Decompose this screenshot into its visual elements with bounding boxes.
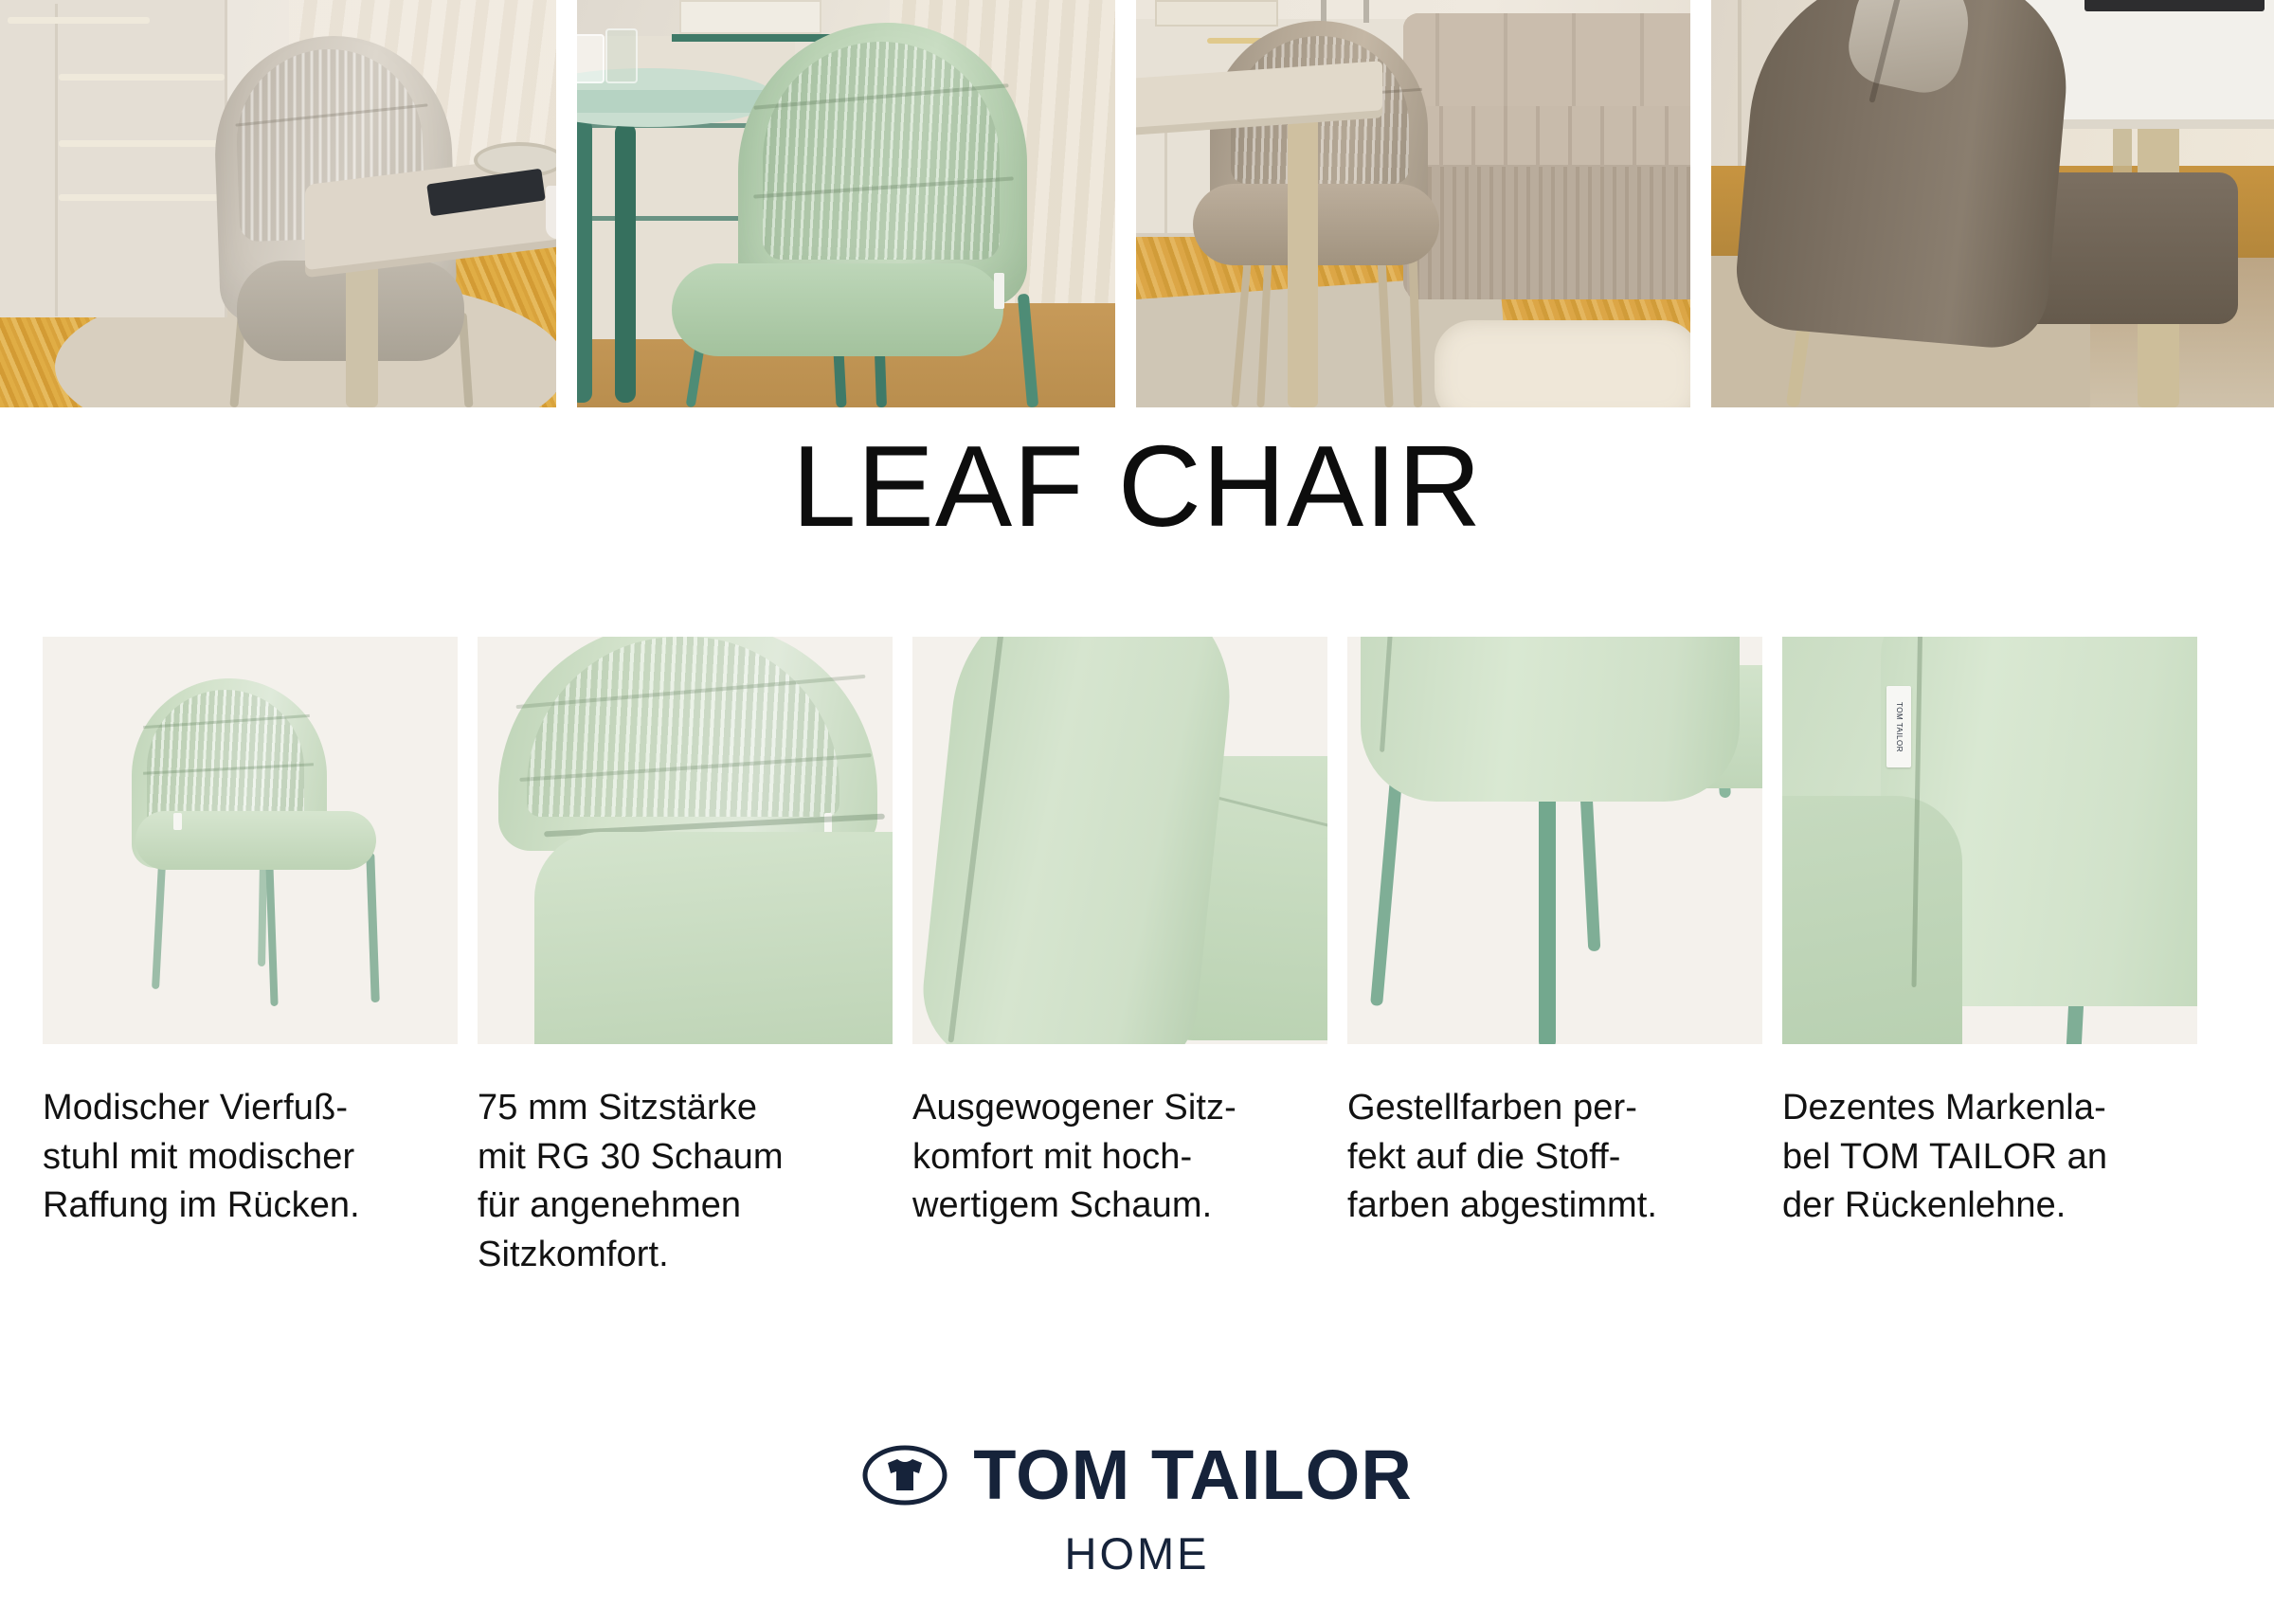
brand-name: TOM TAILOR	[973, 1440, 1413, 1510]
brand-sub-name: HOME	[1065, 1531, 1210, 1576]
feature-item-2: 75 mm Sitzstärkemit RG 30 Schaumfür ange…	[478, 637, 893, 1280]
feature-caption-4-line-2: fekt auf die Stoff-	[1347, 1137, 1620, 1177]
hero-image-green-chair-table	[577, 0, 1115, 407]
hero-image-taupe-chair-sofa	[1136, 0, 1689, 407]
feature-caption-1-line-3: Raffung im Rücken.	[43, 1185, 360, 1225]
feature-caption-2: 75 mm Sitzstärkemit RG 30 Schaumfür ange…	[478, 1084, 893, 1280]
feature-image-back-curve	[912, 637, 1327, 1044]
feature-caption-1-line-2: stuhl mit modischer	[43, 1137, 354, 1177]
feature-item-1: Modischer Vierfuß-stuhl mit modischerRaf…	[43, 637, 458, 1280]
feature-caption-5-line-1: Dezentes Markenla-	[1782, 1088, 2106, 1128]
tshirt-in-ellipse-icon	[861, 1444, 948, 1507]
hero-image-beige-chair-dining	[0, 0, 556, 407]
product-page: LEAF CHAIR Modischer Vierfuß-stuhl mit m…	[0, 0, 2274, 1624]
feature-image-seat-thickness	[478, 637, 893, 1044]
feature-item-4: Gestellfarben per-fekt auf die Stoff-far…	[1347, 637, 1762, 1280]
page-title: LEAF CHAIR	[0, 428, 2274, 544]
feature-caption-1: Modischer Vierfuß-stuhl mit modischerRaf…	[43, 1084, 458, 1231]
feature-caption-2-line-3: für angenehmen	[478, 1185, 741, 1225]
feature-caption-4-line-1: Gestellfarben per-	[1347, 1088, 1637, 1128]
feature-caption-5-line-3: der Rückenlehne.	[1782, 1185, 2066, 1225]
feature-item-3: Ausgewogener Sitz-komfort mit hoch-werti…	[912, 637, 1327, 1280]
feature-image-full-chair	[43, 637, 458, 1044]
feature-caption-2-line-1: 75 mm Sitzstärke	[478, 1088, 757, 1128]
feature-caption-3-line-3: wertigem Schaum.	[912, 1185, 1212, 1225]
feature-caption-3-line-2: komfort mit hoch-	[912, 1137, 1192, 1177]
brand-logo: TOM TAILOR HOME	[0, 1440, 2274, 1576]
feature-caption-2-line-2: mit RG 30 Schaum	[478, 1137, 784, 1177]
feature-grid: Modischer Vierfuß-stuhl mit modischerRaf…	[43, 637, 2231, 1280]
feature-caption-1-line-1: Modischer Vierfuß-	[43, 1088, 348, 1128]
hero-image-brown-chair-profile	[1711, 0, 2274, 407]
feature-caption-2-line-4: Sitzkomfort.	[478, 1235, 669, 1274]
feature-caption-3: Ausgewogener Sitz-komfort mit hoch-werti…	[912, 1084, 1327, 1231]
feature-caption-4-line-3: farben abgestimmt.	[1347, 1185, 1657, 1225]
feature-image-leg-colour	[1347, 637, 1762, 1044]
feature-caption-3-line-1: Ausgewogener Sitz-	[912, 1088, 1236, 1128]
feature-caption-5: Dezentes Markenla-bel TOM TAILOR ander R…	[1782, 1084, 2197, 1231]
brand-label-tag-text: TOM TAILOR	[1886, 686, 1911, 767]
feature-caption-4: Gestellfarben per-fekt auf die Stoff-far…	[1347, 1084, 1762, 1231]
hero-image-strip	[0, 0, 2274, 407]
feature-image-brand-label: TOM TAILOR	[1782, 637, 2197, 1044]
feature-item-5: TOM TAILOR Dezentes Markenla-bel TOM TAI…	[1782, 637, 2197, 1280]
feature-caption-5-line-2: bel TOM TAILOR an	[1782, 1137, 2107, 1177]
